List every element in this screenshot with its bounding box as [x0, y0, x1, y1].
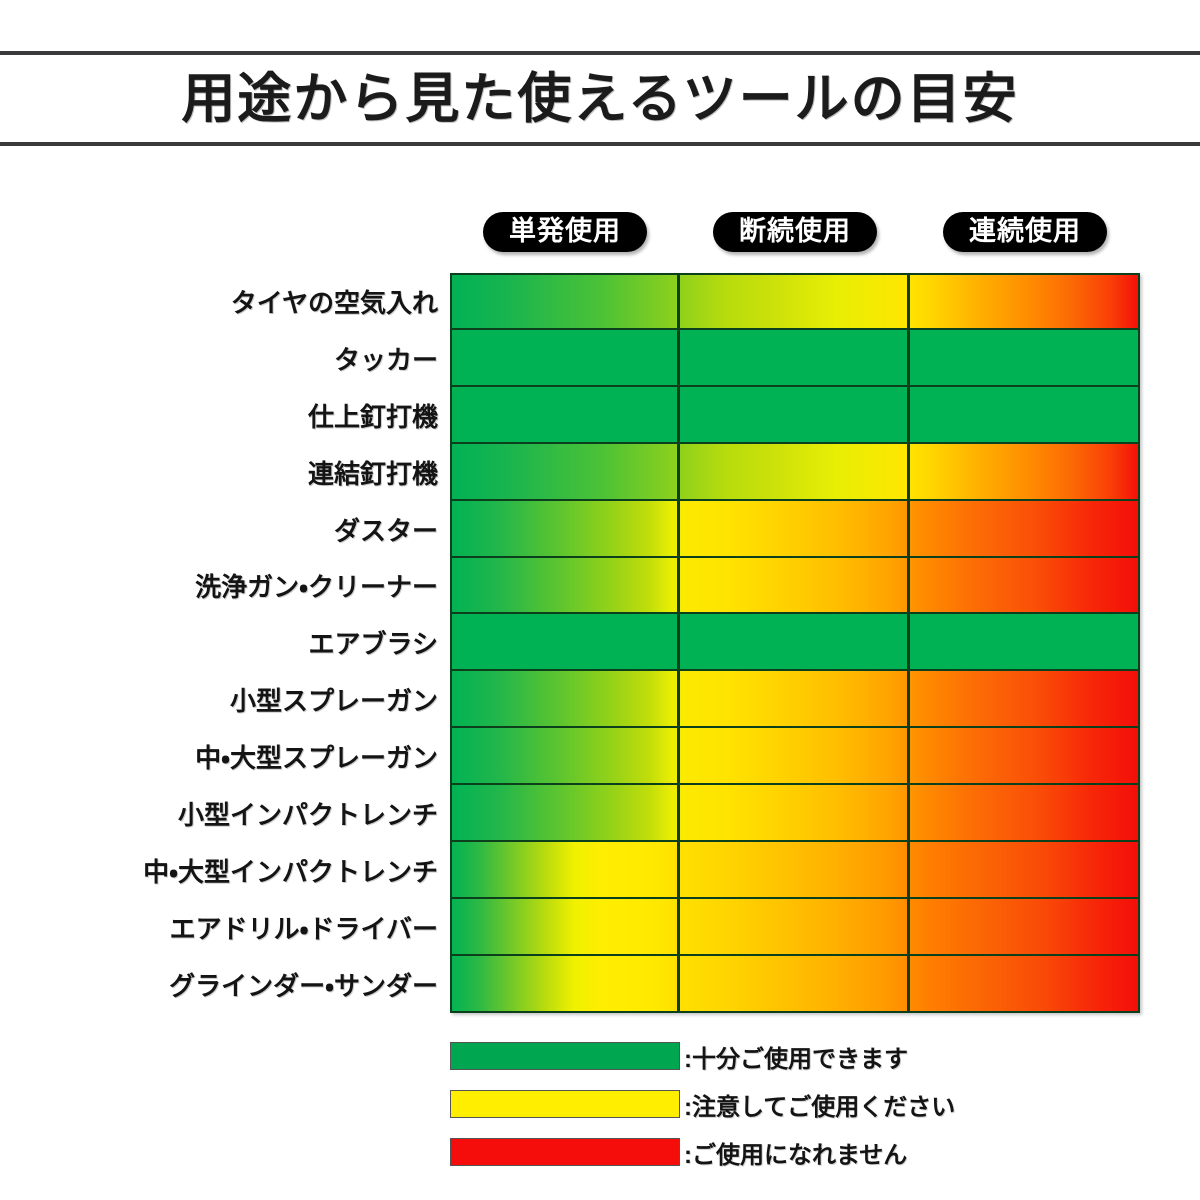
matrix-row-gradient: [450, 785, 1140, 840]
matrix-row-gradient: [450, 842, 1140, 897]
row-label: 中・大型インパクトレンチ: [30, 842, 438, 899]
legend-swatch-red: [450, 1138, 680, 1166]
matrix-row-gradient: [450, 387, 1140, 442]
matrix-row: [450, 842, 1140, 899]
matrix-row-gradient: [450, 444, 1140, 499]
matrix-row-gradient: [450, 671, 1140, 726]
matrix-row-gradient: [450, 956, 1140, 1013]
matrix-row: [450, 728, 1140, 785]
row-label: 小型スプレーガン: [30, 671, 438, 728]
column-header-pill-single-use: 単発使用: [483, 212, 647, 252]
row-label: ダスター: [30, 501, 438, 558]
row-label: エアブラシ: [30, 614, 438, 671]
legend-item-no: :ご使用になれません: [450, 1132, 1050, 1172]
matrix-rows: [450, 273, 1140, 1013]
legend-swatch-green: [450, 1042, 680, 1070]
matrix-row: [450, 273, 1140, 330]
matrix-row: [450, 956, 1140, 1013]
matrix-row-gradient: [450, 501, 1140, 556]
row-label: 小型インパクトレンチ: [30, 785, 438, 842]
matrix-row: [450, 558, 1140, 615]
column-separator-2: [907, 273, 910, 1013]
matrix-row-gradient: [450, 330, 1140, 385]
row-label: 中・大型スプレーガン: [30, 728, 438, 785]
title-band: 用途から見た使えるツールの目安: [0, 51, 1200, 146]
row-label: エアドリル・ドライバー: [30, 899, 438, 956]
legend: :十分ご使用できます :注意してご使用ください :ご使用になれません: [450, 1036, 1050, 1180]
page-title: 用途から見た使えるツールの目安: [181, 72, 1018, 126]
legend-label: :ご使用になれません: [684, 1135, 907, 1170]
matrix-row-gradient: [450, 614, 1140, 669]
matrix-row: [450, 671, 1140, 728]
column-separator-1: [677, 273, 680, 1013]
legend-label: :十分ご使用できます: [684, 1039, 908, 1074]
matrix-row: [450, 899, 1140, 956]
row-label: タッカー: [30, 330, 438, 387]
column-headers: 単発使用 断続使用 連続使用: [450, 209, 1140, 255]
matrix-row: [450, 387, 1140, 444]
usage-matrix: [450, 273, 1140, 1013]
legend-label: :注意してご使用ください: [684, 1087, 955, 1122]
row-label: 仕上釘打機: [30, 387, 438, 444]
row-label-column: タイヤの空気入れ タッカー 仕上釘打機 連結釘打機 ダスター 洗浄ガン・クリーナ…: [30, 273, 438, 1013]
matrix-row: [450, 444, 1140, 501]
matrix-row: [450, 785, 1140, 842]
column-header-pill-intermittent-use: 断続使用: [713, 212, 877, 252]
column-header-cell-2: 連続使用: [910, 209, 1140, 255]
matrix-row-gradient: [450, 273, 1140, 328]
matrix-row: [450, 330, 1140, 387]
matrix-row: [450, 614, 1140, 671]
column-header-cell-0: 単発使用: [450, 209, 680, 255]
legend-swatch-yellow: [450, 1090, 680, 1118]
matrix-row-gradient: [450, 899, 1140, 954]
legend-item-ok: :十分ご使用できます: [450, 1036, 1050, 1076]
legend-item-caution: :注意してご使用ください: [450, 1084, 1050, 1124]
matrix-row-gradient: [450, 558, 1140, 613]
row-label: 連結釘打機: [30, 444, 438, 501]
column-header-cell-1: 断続使用: [680, 209, 910, 255]
column-header-pill-continuous-use: 連続使用: [943, 212, 1107, 252]
row-label: タイヤの空気入れ: [30, 273, 438, 330]
row-label: グラインダー・サンダー: [30, 956, 438, 1013]
matrix-row-gradient: [450, 728, 1140, 783]
matrix-row: [450, 501, 1140, 558]
row-label: 洗浄ガン・クリーナー: [30, 558, 438, 615]
